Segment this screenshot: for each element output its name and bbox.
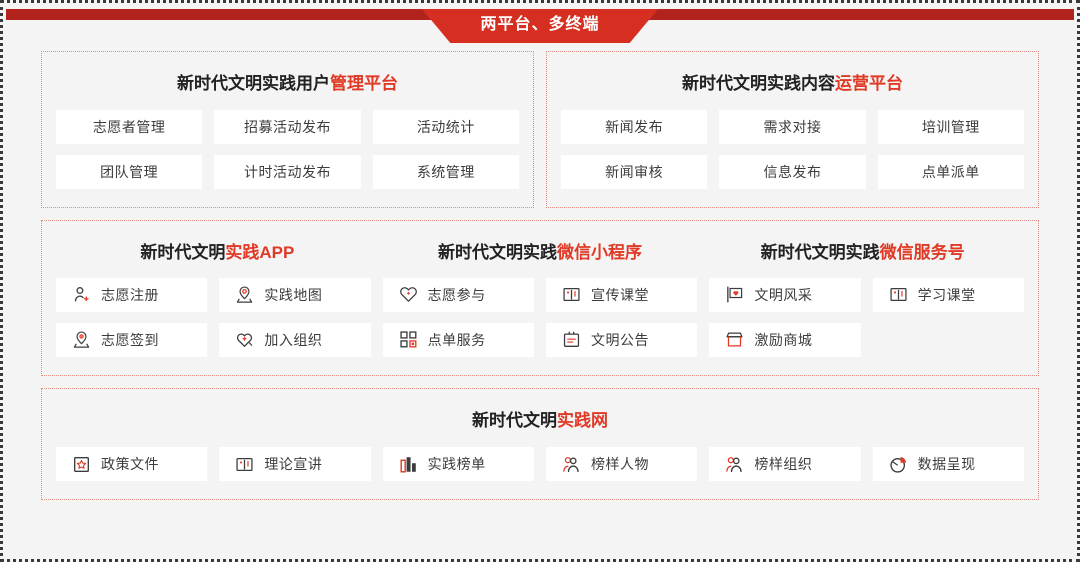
panel-user-management-platform: 新时代文明实践用户管理平台 志愿者管理 招募活动发布 活动统计 团队管理 计时活… xyxy=(41,51,534,208)
panel-grid-content-operation: 新闻发布 需求对接 培训管理 新闻审核 信息发布 点单派单 xyxy=(561,110,1024,189)
infographic-canvas: 两平台、多终端 新时代文明实践用户管理平台 志愿者管理 招募活动发布 活动统计 … xyxy=(0,0,1080,562)
cell-info-publish[interactable]: 信息发布 xyxy=(719,155,865,189)
cell-label: 加入组织 xyxy=(264,330,322,350)
cell-label: 政策文件 xyxy=(101,454,159,474)
cell-label: 榜样组织 xyxy=(754,454,812,474)
title-plain-text: 新时代文明实践用户 xyxy=(177,74,330,93)
cell-label: 实践地图 xyxy=(264,285,322,305)
cell-label: 激励商城 xyxy=(754,330,812,350)
cell-publicity-classroom[interactable]: 宣传课堂 xyxy=(546,278,697,312)
open-book-icon xyxy=(562,285,581,304)
bar-chart-icon xyxy=(399,455,418,474)
cell-label: 理论宣讲 xyxy=(264,454,322,474)
user-add-icon xyxy=(72,285,91,304)
heart-plus-icon xyxy=(235,330,254,349)
title-highlight-text: 实践网 xyxy=(557,411,608,430)
cell-label: 志愿参与 xyxy=(428,285,486,305)
document-star-icon xyxy=(72,455,91,474)
map-pin-icon xyxy=(235,285,254,304)
cell-label: 宣传课堂 xyxy=(591,285,649,305)
terminal-grid: 志愿注册 实践地图 志愿参与 xyxy=(56,278,1024,357)
cell-data-presentation[interactable]: 数据呈现 xyxy=(873,447,1024,481)
panel-title-website: 新时代文明实践网 xyxy=(56,411,1024,431)
cell-label: 文明风采 xyxy=(754,285,812,305)
cell-role-model-organization[interactable]: 榜样组织 xyxy=(709,447,860,481)
cell-volunteer-management[interactable]: 志愿者管理 xyxy=(56,110,202,144)
terminal-titles-row: 新时代文明实践APP 新时代文明实践微信小程序 新时代文明实践微信服务号 xyxy=(56,243,1024,263)
cell-incentive-mall[interactable]: 激励商城 xyxy=(709,323,860,357)
flag-heart-icon xyxy=(725,285,744,304)
cell-news-review[interactable]: 新闻审核 xyxy=(561,155,707,189)
map-pin-check-icon xyxy=(72,330,91,349)
people-icon xyxy=(562,455,581,474)
cell-civilization-announcement[interactable]: 文明公告 xyxy=(546,323,697,357)
panel-title-user-management: 新时代文明实践用户管理平台 xyxy=(56,74,519,94)
platform-row: 新时代文明实践用户管理平台 志愿者管理 招募活动发布 活动统计 团队管理 计时活… xyxy=(41,51,1039,208)
open-book-icon xyxy=(889,285,908,304)
title-highlight-text: 微信小程序 xyxy=(557,243,642,262)
cell-volunteer-register[interactable]: 志愿注册 xyxy=(56,278,207,312)
blocks-icon xyxy=(399,330,418,349)
cell-recruit-activity-publish[interactable]: 招募活动发布 xyxy=(214,110,360,144)
cell-role-model-person[interactable]: 榜样人物 xyxy=(546,447,697,481)
cell-label: 点单服务 xyxy=(428,330,486,350)
cell-study-classroom[interactable]: 学习课堂 xyxy=(873,278,1024,312)
title-highlight-text: 管理平台 xyxy=(330,74,398,93)
cell-training-management[interactable]: 培训管理 xyxy=(878,110,1024,144)
title-highlight-text: 运营平台 xyxy=(835,74,903,93)
panel-content-operation-platform: 新时代文明实践内容运营平台 新闻发布 需求对接 培训管理 新闻审核 信息发布 点… xyxy=(546,51,1039,208)
cell-volunteer-signin[interactable]: 志愿签到 xyxy=(56,323,207,357)
shop-icon xyxy=(725,330,744,349)
heart-icon xyxy=(399,285,418,304)
cell-timed-activity-publish[interactable]: 计时活动发布 xyxy=(214,155,360,189)
cell-join-organization[interactable]: 加入组织 xyxy=(219,323,370,357)
cell-label: 志愿注册 xyxy=(101,285,159,305)
website-grid: 政策文件 理论宣讲 实践榜单 xyxy=(56,447,1024,481)
cell-practice-map[interactable]: 实践地图 xyxy=(219,278,370,312)
terminal-title-app: 新时代文明实践APP xyxy=(56,243,379,263)
title-plain-text: 新时代文明实践内容 xyxy=(682,74,835,93)
cell-label: 数据呈现 xyxy=(918,454,976,474)
cell-activity-statistics[interactable]: 活动统计 xyxy=(373,110,519,144)
cell-practice-ranking[interactable]: 实践榜单 xyxy=(383,447,534,481)
cell-theory-lecture[interactable]: 理论宣讲 xyxy=(219,447,370,481)
cell-system-management[interactable]: 系统管理 xyxy=(373,155,519,189)
announcement-icon xyxy=(562,330,581,349)
banner-ribbon: 两平台、多终端 xyxy=(422,9,658,43)
cell-label: 榜样人物 xyxy=(591,454,649,474)
cell-label: 志愿签到 xyxy=(101,330,159,350)
cell-empty-placeholder xyxy=(873,323,1024,357)
panel-terminals: 新时代文明实践APP 新时代文明实践微信小程序 新时代文明实践微信服务号 志愿注… xyxy=(41,220,1039,375)
panel-website: 新时代文明实践网 政策文件 理论宣讲 xyxy=(41,388,1039,500)
title-plain-text: 新时代文明实践 xyxy=(438,243,557,262)
open-book-icon xyxy=(235,455,254,474)
cell-news-publish[interactable]: 新闻发布 xyxy=(561,110,707,144)
terminal-title-miniprogram: 新时代文明实践微信小程序 xyxy=(379,243,702,263)
cell-civilization-style[interactable]: 文明风采 xyxy=(709,278,860,312)
panel-title-content-operation: 新时代文明实践内容运营平台 xyxy=(561,74,1024,94)
title-highlight-text: 实践APP xyxy=(225,243,294,262)
cell-volunteer-participate[interactable]: 志愿参与 xyxy=(383,278,534,312)
title-plain-text: 新时代文明 xyxy=(140,243,225,262)
panels-container: 新时代文明实践用户管理平台 志愿者管理 招募活动发布 活动统计 团队管理 计时活… xyxy=(41,51,1039,537)
people-icon xyxy=(725,455,744,474)
terminal-title-service-account: 新时代文明实践微信服务号 xyxy=(701,243,1024,263)
pie-chart-icon xyxy=(889,455,908,474)
title-plain-text: 新时代文明 xyxy=(472,411,557,430)
cell-order-service[interactable]: 点单服务 xyxy=(383,323,534,357)
cell-label: 文明公告 xyxy=(591,330,649,350)
cell-order-dispatch[interactable]: 点单派单 xyxy=(878,155,1024,189)
title-plain-text: 新时代文明实践 xyxy=(761,243,880,262)
cell-demand-matching[interactable]: 需求对接 xyxy=(719,110,865,144)
title-highlight-text: 微信服务号 xyxy=(880,243,965,262)
cell-team-management[interactable]: 团队管理 xyxy=(56,155,202,189)
cell-label: 学习课堂 xyxy=(918,285,976,305)
panel-grid-user-management: 志愿者管理 招募活动发布 活动统计 团队管理 计时活动发布 系统管理 xyxy=(56,110,519,189)
cell-policy-document[interactable]: 政策文件 xyxy=(56,447,207,481)
banner-title: 两平台、多终端 xyxy=(480,17,599,35)
cell-label: 实践榜单 xyxy=(428,454,486,474)
